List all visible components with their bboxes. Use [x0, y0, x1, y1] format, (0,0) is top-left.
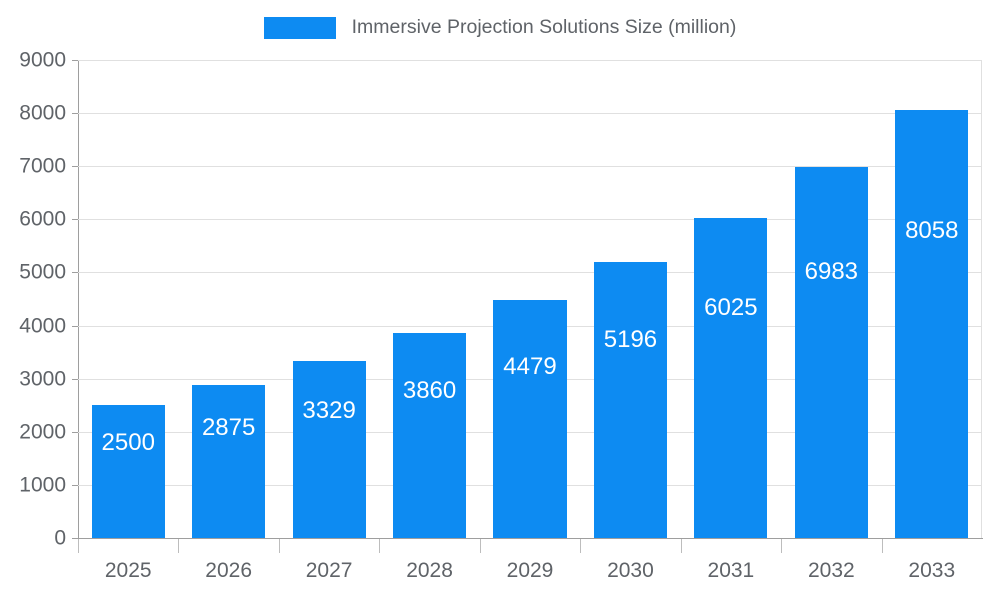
y-axis-tick-label: 5000 [0, 262, 66, 283]
x-axis-tick-mark [882, 539, 883, 553]
y-axis-tick-mark [72, 113, 78, 114]
x-axis-tick-label: 2028 [406, 560, 453, 581]
y-axis-tick-label: 1000 [0, 474, 66, 495]
plot-area: 250028753329386044795196602569838058 [78, 60, 982, 538]
x-axis-tick-mark [580, 539, 581, 553]
y-axis-tick-mark [72, 219, 78, 220]
x-axis-tick-label: 2031 [708, 560, 755, 581]
y-axis-tick-label: 8000 [0, 103, 66, 124]
x-axis-tick-mark [178, 539, 179, 553]
y-axis-tick-label: 0 [0, 528, 66, 549]
x-axis-tick-label: 2032 [808, 560, 855, 581]
bar[interactable] [92, 405, 165, 538]
y-axis-tick-label: 4000 [0, 315, 66, 336]
y-axis-tick-mark [72, 326, 78, 327]
x-axis-tick-label: 2026 [205, 560, 252, 581]
y-axis-tick-label: 7000 [0, 156, 66, 177]
legend-entry[interactable]: Immersive Projection Solutions Size (mil… [264, 17, 737, 39]
y-axis-tick-label: 6000 [0, 209, 66, 230]
bar[interactable] [192, 385, 265, 538]
x-axis-tick-label: 2029 [507, 560, 554, 581]
gridline [78, 113, 982, 114]
bar[interactable] [393, 333, 466, 538]
y-axis-tick-mark [72, 379, 78, 380]
y-axis-tick-label: 9000 [0, 50, 66, 71]
x-axis-tick-label: 2027 [306, 560, 353, 581]
x-axis-line [78, 538, 983, 539]
y-axis-tick-mark [72, 166, 78, 167]
y-axis-tick-mark [72, 432, 78, 433]
bar[interactable] [694, 218, 767, 538]
x-axis-tick-mark [78, 539, 79, 553]
bar-chart: Immersive Projection Solutions Size (mil… [0, 0, 1000, 600]
y-axis-tick-label: 3000 [0, 368, 66, 389]
chart-legend: Immersive Projection Solutions Size (mil… [0, 0, 1000, 56]
y-axis-tick-mark [72, 272, 78, 273]
x-axis-tick-mark [279, 539, 280, 553]
y-axis-tick-mark [72, 60, 78, 61]
x-axis-tick-mark [480, 539, 481, 553]
bar[interactable] [594, 262, 667, 538]
x-axis-tick-label: 2033 [908, 560, 955, 581]
bar[interactable] [493, 300, 566, 538]
legend-color-swatch [264, 17, 336, 39]
gridline [78, 60, 982, 61]
x-axis-tick-mark [379, 539, 380, 553]
x-axis-tick-mark [681, 539, 682, 553]
legend-label: Immersive Projection Solutions Size (mil… [352, 18, 737, 38]
x-axis-tick-label: 2030 [607, 560, 654, 581]
x-axis-tick-label: 2025 [105, 560, 152, 581]
bar[interactable] [795, 167, 868, 538]
bar[interactable] [895, 110, 968, 538]
x-axis-tick-mark [781, 539, 782, 553]
plot-right-border [981, 60, 982, 538]
y-axis-tick-mark [72, 485, 78, 486]
bar[interactable] [293, 361, 366, 538]
y-axis-tick-label: 2000 [0, 421, 66, 442]
